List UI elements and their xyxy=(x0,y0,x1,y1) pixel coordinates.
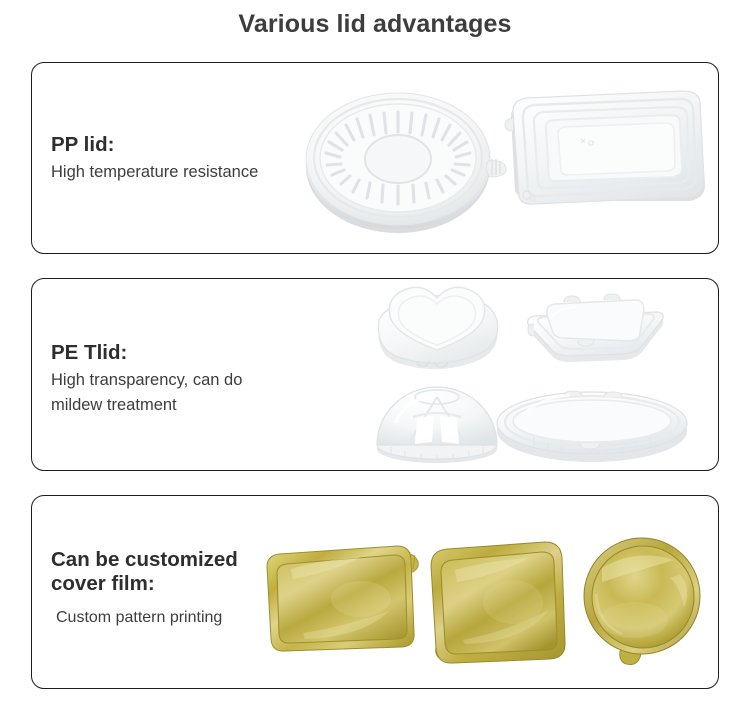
card-cover-film-text: Can be customized cover film: Custom pat… xyxy=(51,548,238,630)
page-title: Various lid advantages xyxy=(0,10,750,39)
square-foil-lid-image xyxy=(417,536,582,671)
card-pe-lid: PE Tlid: High transparency, can do milde… xyxy=(31,278,719,471)
card-pe-lid-text: PE Tlid: High transparency, can do milde… xyxy=(51,341,242,418)
card-pp-lid: PP lid: High temperature resistance xyxy=(31,62,719,254)
square-pe-lid-image xyxy=(512,278,672,379)
card-cover-film-heading: Can be customized cover film: xyxy=(51,548,238,596)
card-cover-film: Can be customized cover film: Custom pat… xyxy=(31,495,719,689)
card-pp-lid-heading: PP lid: xyxy=(51,133,258,157)
card-cover-film-subtitle: Custom pattern printing xyxy=(56,606,238,630)
round-foil-lid-image xyxy=(562,534,719,669)
oval-pe-lid-image xyxy=(492,377,692,469)
card-pp-lid-subtitle: High temperature resistance xyxy=(51,160,258,185)
rectangular-pp-lid-image xyxy=(487,73,719,238)
round-pp-lid-image xyxy=(298,79,503,239)
card-pp-lid-text: PP lid: High temperature resistance xyxy=(51,133,258,185)
heart-pe-lid-image xyxy=(357,278,517,379)
card-pe-lid-heading: PE Tlid: xyxy=(51,341,242,365)
rectangular-foil-lid-image xyxy=(257,541,432,656)
card-pe-lid-subtitle: High transparency, can do mildew treatme… xyxy=(51,368,242,418)
